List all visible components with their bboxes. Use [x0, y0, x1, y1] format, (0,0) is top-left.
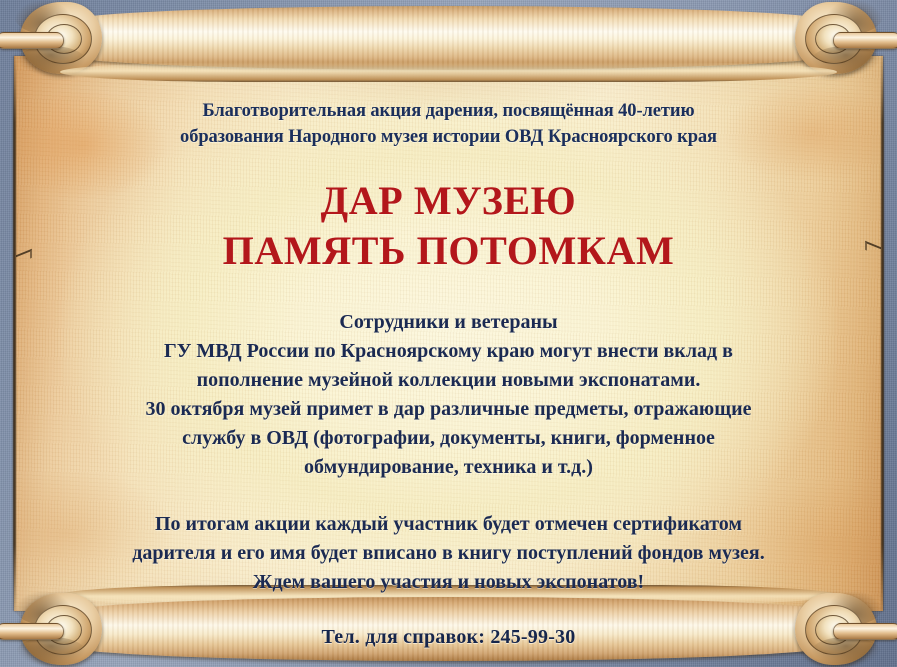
sheet-curl-lip-top [60, 62, 837, 82]
body-p1-line-1: Сотрудники и ветераны [60, 308, 837, 337]
poster-title: ДАР МУЗЕЮ ПАМЯТЬ ПОТОМКАМ [60, 176, 837, 276]
scroll-rod-top [62, 6, 835, 70]
header-line-2: образования Народного музея истории ОВД … [60, 124, 837, 150]
sheet-edge-nick-right [865, 244, 881, 253]
body-p1-line-5: службу в ОВД (фотографии, документы, кни… [60, 424, 837, 453]
poster-content: Благотворительная акция дарения, посвящё… [60, 84, 837, 583]
body-paragraph-1: Сотрудники и ветераны ГУ МВД России по К… [60, 308, 837, 482]
sheet-edge-nick-left [16, 252, 32, 261]
sheet-left-edge [13, 56, 16, 611]
title-line-2: ПАМЯТЬ ПОТОМКАМ [60, 226, 837, 276]
rod-wood-grain-top [62, 6, 835, 70]
spindle-rod-top-left [0, 32, 64, 49]
body-paragraph-2: По итогам акции каждый участник будет от… [60, 510, 837, 597]
poster-body: Сотрудники и ветераны ГУ МВД России по К… [60, 308, 837, 597]
body-p2-line-3: Ждем вашего участия и новых экспонатов! [60, 568, 837, 597]
body-p2-line-1: По итогам акции каждый участник будет от… [60, 510, 837, 539]
body-p1-line-3: пополнение музейной коллекции новыми экс… [60, 366, 837, 395]
body-p1-line-2: ГУ МВД России по Красноярскому краю могу… [60, 337, 837, 366]
spindle-rod-top-right [833, 32, 897, 49]
poster-header: Благотворительная акция дарения, посвящё… [60, 98, 837, 150]
header-line-1: Благотворительная акция дарения, посвящё… [60, 98, 837, 124]
scroll-poster: Благотворительная акция дарения, посвящё… [0, 0, 897, 667]
scroll-knob-top-right [783, 0, 887, 76]
sheet-right-edge [881, 56, 884, 611]
body-p1-line-4: 30 октября музей примет в дар различные … [60, 395, 837, 424]
body-p2-line-2: дарителя и его имя будет вписано в книгу… [60, 539, 837, 568]
contact-phone: Тел. для справок: 245-99-30 [0, 626, 897, 649]
body-p1-line-6: обмундирование, техника и т.д.) [60, 453, 837, 482]
scroll-knob-top-left [10, 0, 114, 76]
title-line-1: ДАР МУЗЕЮ [60, 176, 837, 226]
